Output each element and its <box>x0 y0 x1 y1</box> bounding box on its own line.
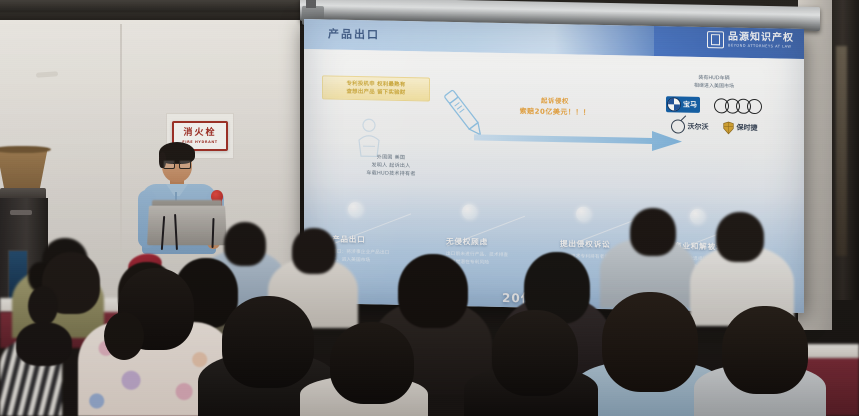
timeline-heading: 产品出口 <box>332 234 450 247</box>
lawsuit-caption: 起诉侵权 索赔20亿美元！！！ <box>500 95 610 118</box>
brand-name-en: BEYOND ATTORNEYS AT LAW <box>728 44 794 49</box>
brand-volvo-label: 沃尔沃 <box>688 122 709 132</box>
car-brands-note: 装有HUD车辆 相继进入美国市场 <box>634 74 794 92</box>
timeline-dot <box>690 209 705 224</box>
attendee-ponytail <box>28 286 58 326</box>
attendee-head <box>492 310 578 396</box>
water-cooler-button[interactable] <box>10 210 32 215</box>
slide-title: 产品出口 <box>328 25 380 42</box>
attendee-head <box>602 292 698 392</box>
car-row-top: 宝马 奥迪 <box>634 96 794 115</box>
audi-logo-icon <box>714 98 762 114</box>
attendee-head <box>222 296 314 388</box>
presenter-glasses <box>163 160 191 167</box>
water-bucket-rim <box>0 146 51 153</box>
attendee-head <box>224 222 266 266</box>
brand-logo: 品源知识产权 BEYOND ATTORNEYS AT LAW <box>707 31 794 50</box>
attendee-head <box>330 322 414 404</box>
ceiling-strip <box>0 0 300 12</box>
bmw-logo-icon <box>667 97 681 111</box>
wall-seam <box>120 24 122 264</box>
car-brands-group: 装有HUD车辆 相继进入美国市场 宝马 <box>634 74 794 136</box>
attendee-head <box>722 306 808 394</box>
timeline-dot <box>462 204 477 219</box>
attendee-head <box>716 212 764 262</box>
porsche-logo-icon <box>723 121 734 134</box>
callout-line-2: 查想出产品 留下实验财 <box>327 88 425 98</box>
attendee-ponytail <box>104 312 144 360</box>
attendee-head <box>398 254 468 328</box>
attendee-head <box>630 208 676 256</box>
podium <box>147 206 227 246</box>
brand-audi: 奥迪 <box>714 98 762 114</box>
brand-bmw: 宝马 <box>666 96 700 113</box>
brand-porsche-label: 保时捷 <box>737 123 758 133</box>
volvo-logo-icon <box>671 119 685 133</box>
fire-sign-cn: 消火栓 <box>183 129 216 138</box>
brand-name-cn: 品源知识产权 <box>728 32 794 43</box>
timeline-heading: 无侵权顾虑 <box>446 236 564 249</box>
roller-mount <box>306 0 316 8</box>
presentation-photo: 产品出口 品源知识产权 BEYOND ATTORNEYS AT LAW 专利投机… <box>0 0 859 416</box>
brand-volvo: 沃尔沃 <box>671 119 709 134</box>
brand-porsche: 保时捷 <box>723 121 758 135</box>
lawsuit-line-2: 索赔20亿美元！！！ <box>500 106 610 118</box>
attendee-head <box>292 228 336 274</box>
inventor-caption: 外国国 美国 发明人 起诉出人 车载HUD技术持有者 <box>332 154 450 180</box>
attendee-head <box>16 322 72 366</box>
inventor-line-3: 车载HUD技术持有者 <box>332 169 450 179</box>
lawsuit-line-1: 起诉侵权 <box>500 95 610 106</box>
brand-bmw-label: 宝马 <box>683 100 697 110</box>
patent-callout: 专利投机申 权利最熟有 查想出产品 留下实验财 <box>322 75 430 101</box>
doorway-light <box>836 46 847 256</box>
timeline-dot <box>348 202 363 217</box>
timeline-dot <box>576 206 591 221</box>
brand-mark-icon <box>707 31 724 48</box>
